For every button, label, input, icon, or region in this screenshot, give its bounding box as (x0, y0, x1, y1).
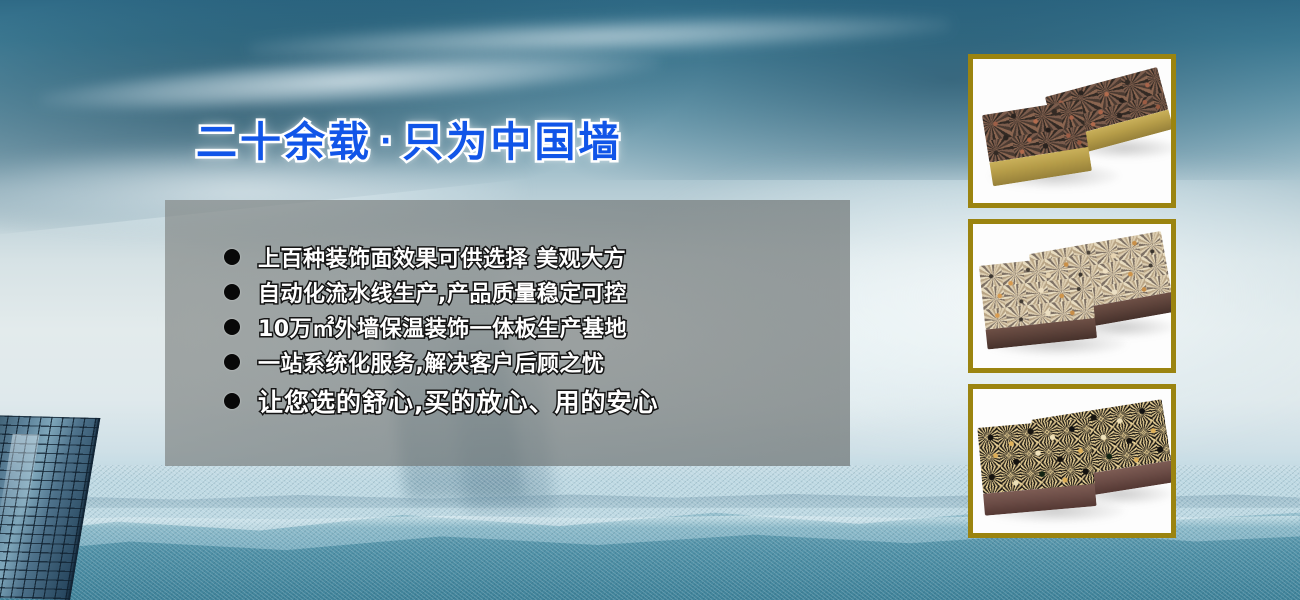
bullet-text: 一站系统化服务,解决客户后顾之忧 (258, 346, 604, 378)
bullet-text: 上百种装饰面效果可供选择 美观大方 (258, 241, 626, 273)
product-photo-frame-3[interactable] (968, 384, 1176, 538)
headline-part-1: 二十余载 (196, 118, 372, 166)
list-item: 让您选的舒心,买的放心、用的安心 (224, 380, 844, 422)
list-item: 上百种装饰面效果可供选择 美观大方 (224, 240, 844, 274)
product-photo-frame-2[interactable] (968, 219, 1176, 373)
list-item: 一站系统化服务,解决客户后顾之忧 (224, 345, 844, 379)
product-panel-granite-red-icon (973, 59, 1171, 203)
list-item: 自动化流水线生产,产品质量稳定可控 (224, 275, 844, 309)
slab-face (979, 254, 1095, 329)
bullet-text: 自动化流水线生产,产品质量稳定可控 (258, 276, 627, 308)
banner-headline: 二十余载·只为中国墙 (196, 122, 622, 163)
bullet-dot-icon (224, 393, 240, 409)
bullet-text: 10万㎡外墙保温装饰一体板生产基地 (258, 311, 627, 343)
slab-face (977, 418, 1094, 494)
panel-slab-lower (979, 254, 1097, 349)
promo-banner: 二十余载·只为中国墙 上百种装饰面效果可供选择 美观大方 自动化流水线生产,产品… (0, 0, 1300, 600)
headline-part-2: 只为中国墙 (402, 118, 622, 166)
product-panel-speckled-dark-icon (973, 389, 1171, 533)
bullet-text: 让您选的舒心,买的放心、用的安心 (258, 383, 659, 419)
panel-slab-lower (977, 418, 1096, 515)
headline-separator-dot: · (372, 124, 402, 159)
bullet-dot-icon (224, 319, 240, 335)
product-panel-sand-beige-icon (973, 224, 1171, 368)
bullet-dot-icon (224, 354, 240, 370)
product-photo-frame-1[interactable] (968, 54, 1176, 208)
feature-bullet-list: 上百种装饰面效果可供选择 美观大方 自动化流水线生产,产品质量稳定可控 10万㎡… (224, 240, 844, 423)
list-item: 10万㎡外墙保温装饰一体板生产基地 (224, 310, 844, 344)
bullet-dot-icon (224, 249, 240, 265)
bullet-dot-icon (224, 284, 240, 300)
